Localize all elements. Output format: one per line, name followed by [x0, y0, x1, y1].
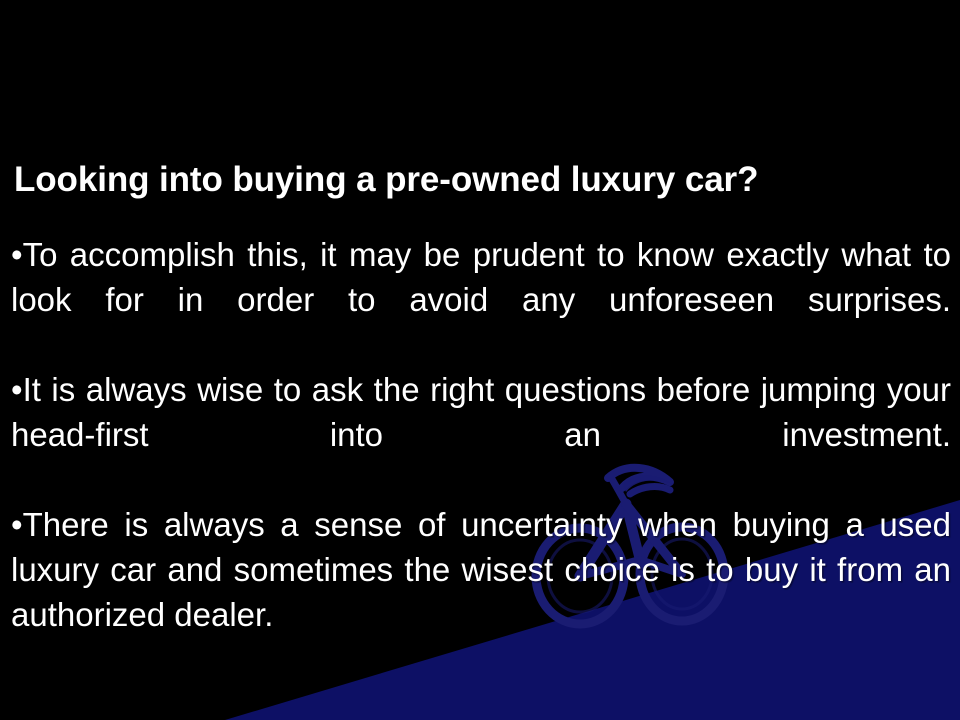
bullet-marker: •	[11, 506, 23, 543]
list-item-text: It is always wise to ask the right quest…	[11, 371, 951, 453]
list-item: •To accomplish this, it may be prudent t…	[11, 232, 951, 367]
bullet-marker: •	[11, 371, 23, 408]
list-item-text: There is always a sense of uncertainty w…	[11, 506, 951, 633]
list-item: •It is always wise to ask the right ques…	[11, 367, 951, 502]
list-item-text: To accomplish this, it may be prudent to…	[11, 236, 951, 318]
presentation-slide: Looking into buying a pre-owned luxury c…	[0, 0, 960, 720]
list-item: •There is always a sense of uncertainty …	[11, 502, 951, 637]
bullet-list: •To accomplish this, it may be prudent t…	[11, 232, 951, 637]
bullet-marker: •	[11, 236, 23, 273]
page-title: Looking into buying a pre-owned luxury c…	[14, 160, 946, 199]
